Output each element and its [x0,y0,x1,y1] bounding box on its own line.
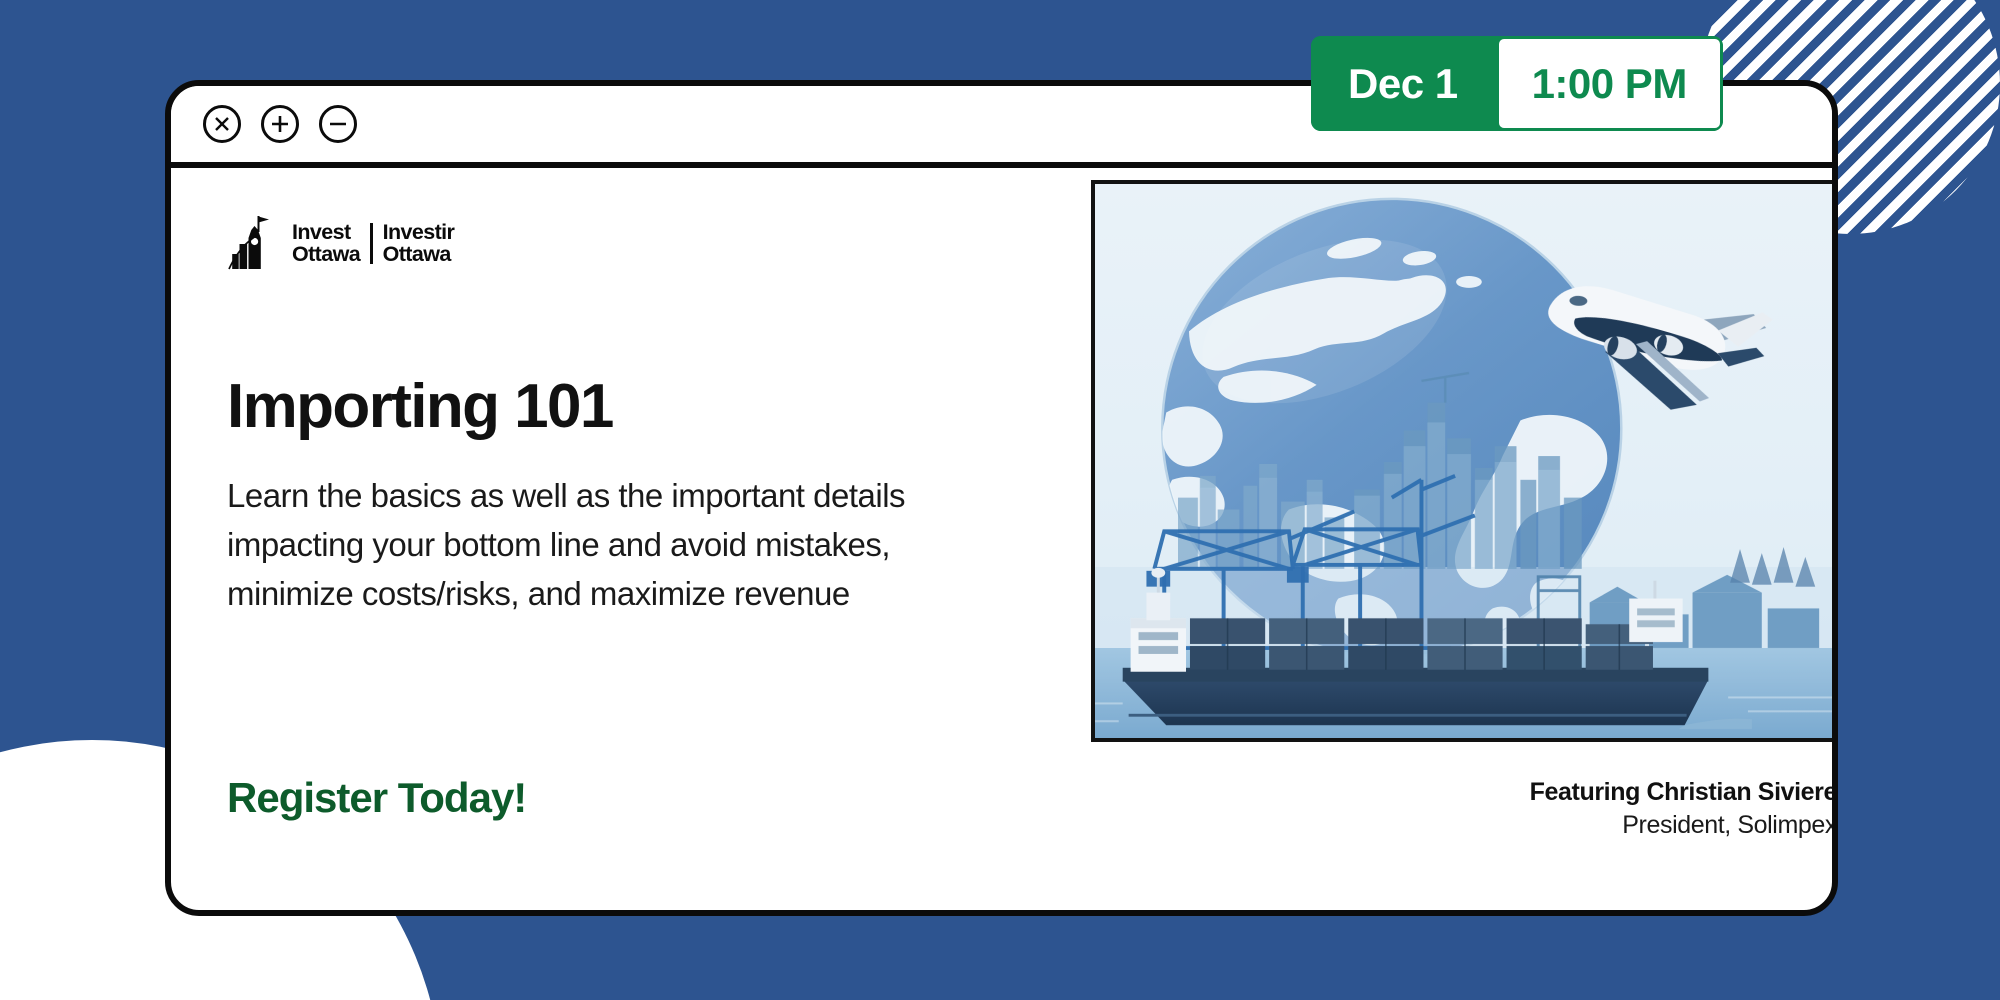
logo-divider [370,223,373,264]
invest-ottawa-parliament-tower-icon [227,214,281,275]
left-content-pane: Invest Ottawa Investir Ottawa Importing … [171,168,1091,910]
badge-date: Dec 1 [1311,36,1495,131]
promo-window-card: Invest Ottawa Investir Ottawa Importing … [165,80,1838,916]
logo-text-english: Invest Ottawa [292,222,360,266]
event-datetime-badge[interactable]: Dec 1 1:00 PM [1311,36,1723,131]
global-trade-logistics-image [1091,180,1838,742]
speaker-role: President, Solimpex [1091,809,1837,843]
invest-ottawa-logo: Invest Ottawa Investir Ottawa [227,216,1091,272]
speaker-credits: Featuring Christian Siviere President, S… [1091,742,1838,842]
minus-circle-icon[interactable] [319,105,357,143]
close-circle-icon[interactable] [203,105,241,143]
logo-text-french: Investir Ottawa [383,222,455,266]
speaker-name: Featuring Christian Siviere [1091,776,1837,809]
description-text: Learn the basics as well as the importan… [227,472,1017,618]
page-title: Importing 101 [227,376,1091,438]
badge-time: 1:00 PM [1495,36,1723,131]
plus-circle-icon[interactable] [261,105,299,143]
right-media-pane: Featuring Christian Siviere President, S… [1091,168,1838,910]
logo-wordmark: Invest Ottawa Investir Ottawa [292,222,454,266]
register-today-button[interactable]: Register Today! [227,774,526,822]
window-content: Invest Ottawa Investir Ottawa Importing … [171,168,1832,910]
